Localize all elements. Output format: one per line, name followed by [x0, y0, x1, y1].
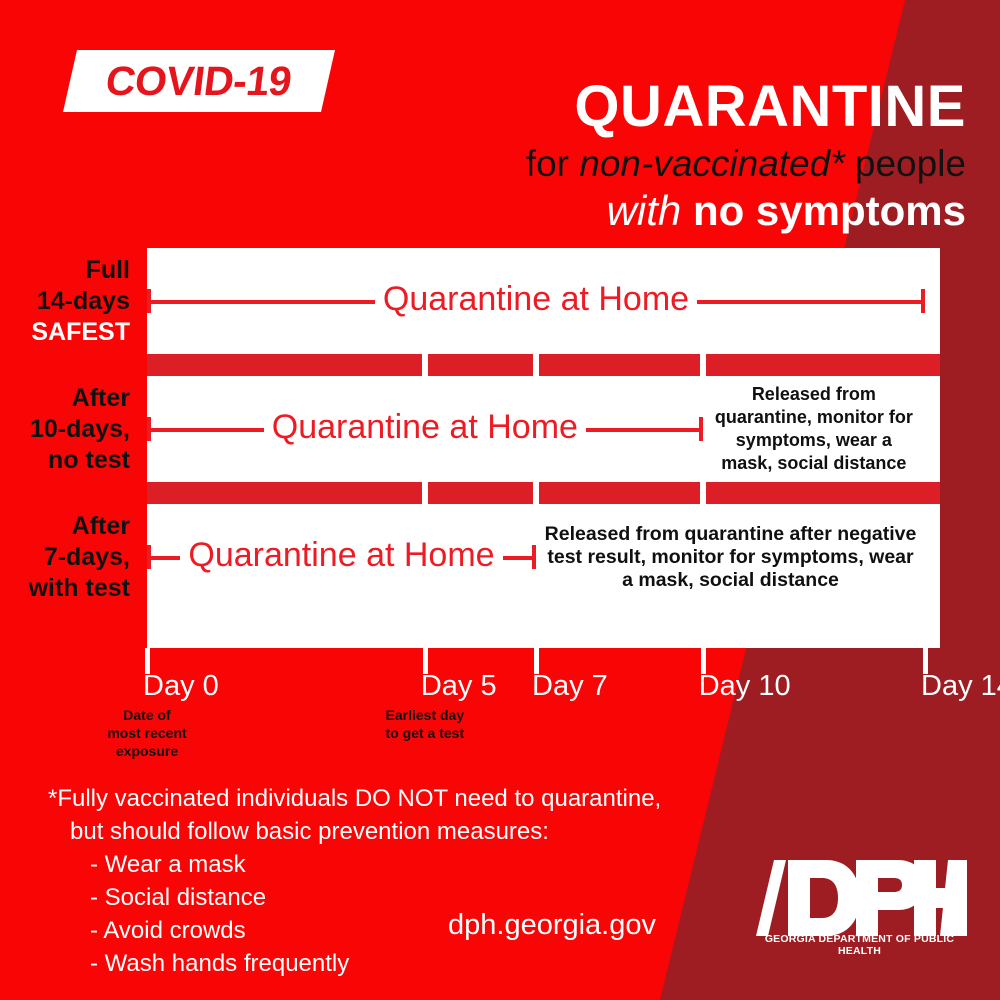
chart-row-label-line: no test [0, 445, 130, 476]
axis-day-sublabel: Date ofmost recentexposure [87, 706, 207, 760]
bracket-line-left [149, 300, 375, 304]
axis-day-sublabel-line: Earliest day [365, 706, 485, 724]
chart-row-separator [147, 482, 940, 504]
bracket-line-right [586, 428, 701, 432]
subtitle-suffix: people [845, 143, 966, 184]
chart-row-label-line: 14-days [0, 286, 130, 317]
subtitle-emphasis: non-vaccinated* [579, 143, 844, 184]
chart-row-label: Full14-daysSAFEST [0, 255, 130, 348]
subtitle-line: for non-vaccinated* people [206, 142, 966, 186]
separator-notch [533, 482, 539, 504]
chart-row-label-line: SAFEST [0, 317, 130, 348]
footnote-bullet: - Wear a mask [48, 848, 688, 881]
page-title: QUARANTINE [206, 78, 966, 136]
subtitle-prefix: for [526, 143, 579, 184]
separator-notch [422, 482, 428, 504]
chart-row-label: After7-days,with test [0, 511, 130, 604]
bracket-line-left [149, 556, 180, 560]
quarantine-timeline-chart: Released from quarantine, monitor for sy… [147, 248, 940, 648]
axis-day-label: Day 0 [143, 670, 219, 703]
bracket-line-right [697, 300, 923, 304]
chart-row-label-line: After [0, 511, 130, 542]
axis-day-label: Day 5 [421, 670, 497, 703]
subtitle-line-2: with no symptoms [206, 187, 966, 235]
dph-logo-mark [752, 852, 967, 938]
quarantine-at-home-label: Quarantine at Home [188, 538, 494, 572]
chart-row-label-line: with test [0, 573, 130, 604]
chart-x-axis: Day 0Date ofmost recentexposureDay 5Earl… [0, 648, 1000, 768]
chart-row-label-line: After [0, 383, 130, 414]
separator-notch [700, 482, 706, 504]
subtitle2-bold: no symptoms [693, 187, 966, 234]
footnote-bullet: - Wash hands frequently [48, 947, 688, 980]
released-from-quarantine-panel: Released from quarantine after negative … [536, 504, 925, 610]
dph-logo-tagline: GEORGIA DEPARTMENT OF PUBLIC HEALTH [752, 933, 967, 957]
separator-notch [422, 354, 428, 376]
axis-day-sublabel: Earliest dayto get a test [365, 706, 485, 742]
chart-row-label: After10-days,no test [0, 383, 130, 476]
axis-day-sublabel-line: Date of [87, 706, 207, 724]
dph-logo: GEORGIA DEPARTMENT OF PUBLIC HEALTH [752, 852, 967, 957]
website-link[interactable]: dph.georgia.gov [448, 909, 656, 942]
chart-row-separator [147, 354, 940, 376]
header-title-block: QUARANTINE for non-vaccinated* people wi… [206, 78, 966, 235]
chart-row-label-line: Full [0, 255, 130, 286]
bracket-cap-end [532, 545, 536, 569]
axis-day-sublabel-line: exposure [87, 742, 207, 760]
footnote-block: *Fully vaccinated individuals DO NOT nee… [48, 782, 688, 980]
axis-day-sublabel-line: most recent [87, 724, 207, 742]
bracket-line-right [503, 556, 534, 560]
separator-notch [533, 354, 539, 376]
quarantine-at-home-label: Quarantine at Home [272, 410, 578, 444]
footnote-line-1: *Fully vaccinated individuals DO NOT nee… [48, 782, 688, 815]
axis-day-label: Day 10 [699, 670, 791, 703]
bracket-cap-end [699, 417, 703, 441]
footnote-line-2: but should follow basic prevention measu… [48, 815, 688, 848]
bracket-line-left [149, 428, 264, 432]
infographic-canvas: COVID-19 QUARANTINE for non-vaccinated* … [0, 0, 1000, 1000]
quarantine-at-home-label: Quarantine at Home [383, 282, 689, 316]
axis-day-label: Day 7 [532, 670, 608, 703]
axis-day-sublabel-line: to get a test [365, 724, 485, 742]
released-panel-text: Released from quarantine after negative … [536, 523, 925, 592]
released-from-quarantine-panel: Released from quarantine, monitor for sy… [703, 376, 925, 482]
released-panel-text: Released from quarantine, monitor for sy… [703, 383, 925, 475]
axis-day-label: Day 14 [921, 670, 1000, 703]
separator-notch [700, 354, 706, 376]
subtitle2-italic: with [607, 187, 693, 234]
chart-row-label-line: 7-days, [0, 542, 130, 573]
bracket-cap-end [921, 289, 925, 313]
chart-row-label-line: 10-days, [0, 414, 130, 445]
